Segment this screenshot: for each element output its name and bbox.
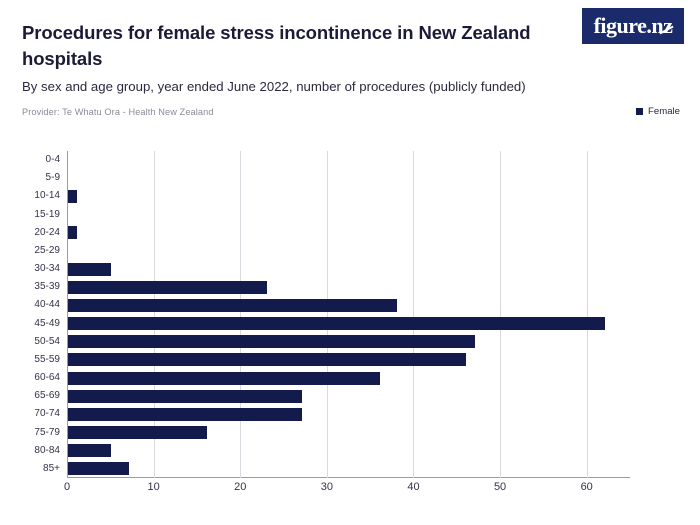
y-axis-tick-label: 5-9 (46, 172, 60, 184)
bar[interactable] (68, 372, 380, 385)
bar[interactable] (68, 444, 111, 457)
chart-subtitle: By sex and age group, year ended June 20… (22, 78, 582, 96)
bar[interactable] (68, 299, 397, 312)
x-axis-line (67, 477, 630, 478)
chart-page: Procedures for female stress incontinenc… (0, 0, 700, 525)
y-axis-tick-label: 15-19 (34, 209, 60, 221)
page-title: Procedures for female stress incontinenc… (22, 20, 542, 72)
gridline (413, 151, 414, 478)
y-axis-labels: 0-45-910-1415-1920-2425-2930-3435-3940-4… (0, 151, 60, 478)
y-axis-tick-label: 75-79 (34, 427, 60, 439)
bar[interactable] (68, 317, 605, 330)
chart-legend: Female (636, 106, 680, 117)
legend-swatch-female (636, 108, 643, 115)
logo-text: figure.nz (594, 13, 673, 39)
x-axis-tick-label: 20 (234, 481, 246, 493)
y-axis-tick-label: 50-54 (34, 336, 60, 348)
figurenz-logo[interactable]: figure.nz (582, 8, 684, 44)
y-axis-tick-label: 55-59 (34, 354, 60, 366)
y-axis-tick-label: 20-24 (34, 227, 60, 239)
bar[interactable] (68, 190, 77, 203)
x-axis-tick-label: 10 (147, 481, 159, 493)
bar[interactable] (68, 335, 475, 348)
y-axis-tick-label: 80-84 (34, 445, 60, 457)
x-axis-tick-label: 50 (494, 481, 506, 493)
gridline (500, 151, 501, 478)
gridline (240, 151, 241, 478)
y-axis-tick-label: 0-4 (46, 154, 60, 166)
gridline (327, 151, 328, 478)
y-axis-tick-label: 85+ (43, 463, 60, 475)
provider-note: Provider: Te Whatu Ora - Health New Zeal… (22, 107, 214, 117)
x-axis-tick-label: 40 (407, 481, 419, 493)
y-axis-tick-label: 45-49 (34, 318, 60, 330)
bar[interactable] (68, 408, 302, 421)
y-axis-tick-label: 30-34 (34, 263, 60, 275)
bar[interactable] (68, 426, 207, 439)
y-axis-tick-label: 10-14 (34, 190, 60, 202)
bar[interactable] (68, 390, 302, 403)
y-axis-tick-label: 60-64 (34, 372, 60, 384)
bar[interactable] (68, 263, 111, 276)
x-axis-tick-label: 0 (64, 481, 70, 493)
y-axis-tick-label: 65-69 (34, 390, 60, 402)
legend-label-female: Female (648, 106, 680, 117)
y-axis-tick-label: 35-39 (34, 281, 60, 293)
bar[interactable] (68, 281, 267, 294)
x-axis-tick-label: 60 (581, 481, 593, 493)
bar[interactable] (68, 353, 466, 366)
y-axis-tick-label: 70-74 (34, 408, 60, 420)
bar[interactable] (68, 462, 129, 475)
bar[interactable] (68, 226, 77, 239)
plot-area (67, 151, 630, 478)
x-axis-tick-label: 30 (321, 481, 333, 493)
y-axis-tick-label: 40-44 (34, 299, 60, 311)
gridline (587, 151, 588, 478)
y-axis-tick-label: 25-29 (34, 245, 60, 257)
x-axis-labels: 0102030405060 (67, 481, 637, 497)
